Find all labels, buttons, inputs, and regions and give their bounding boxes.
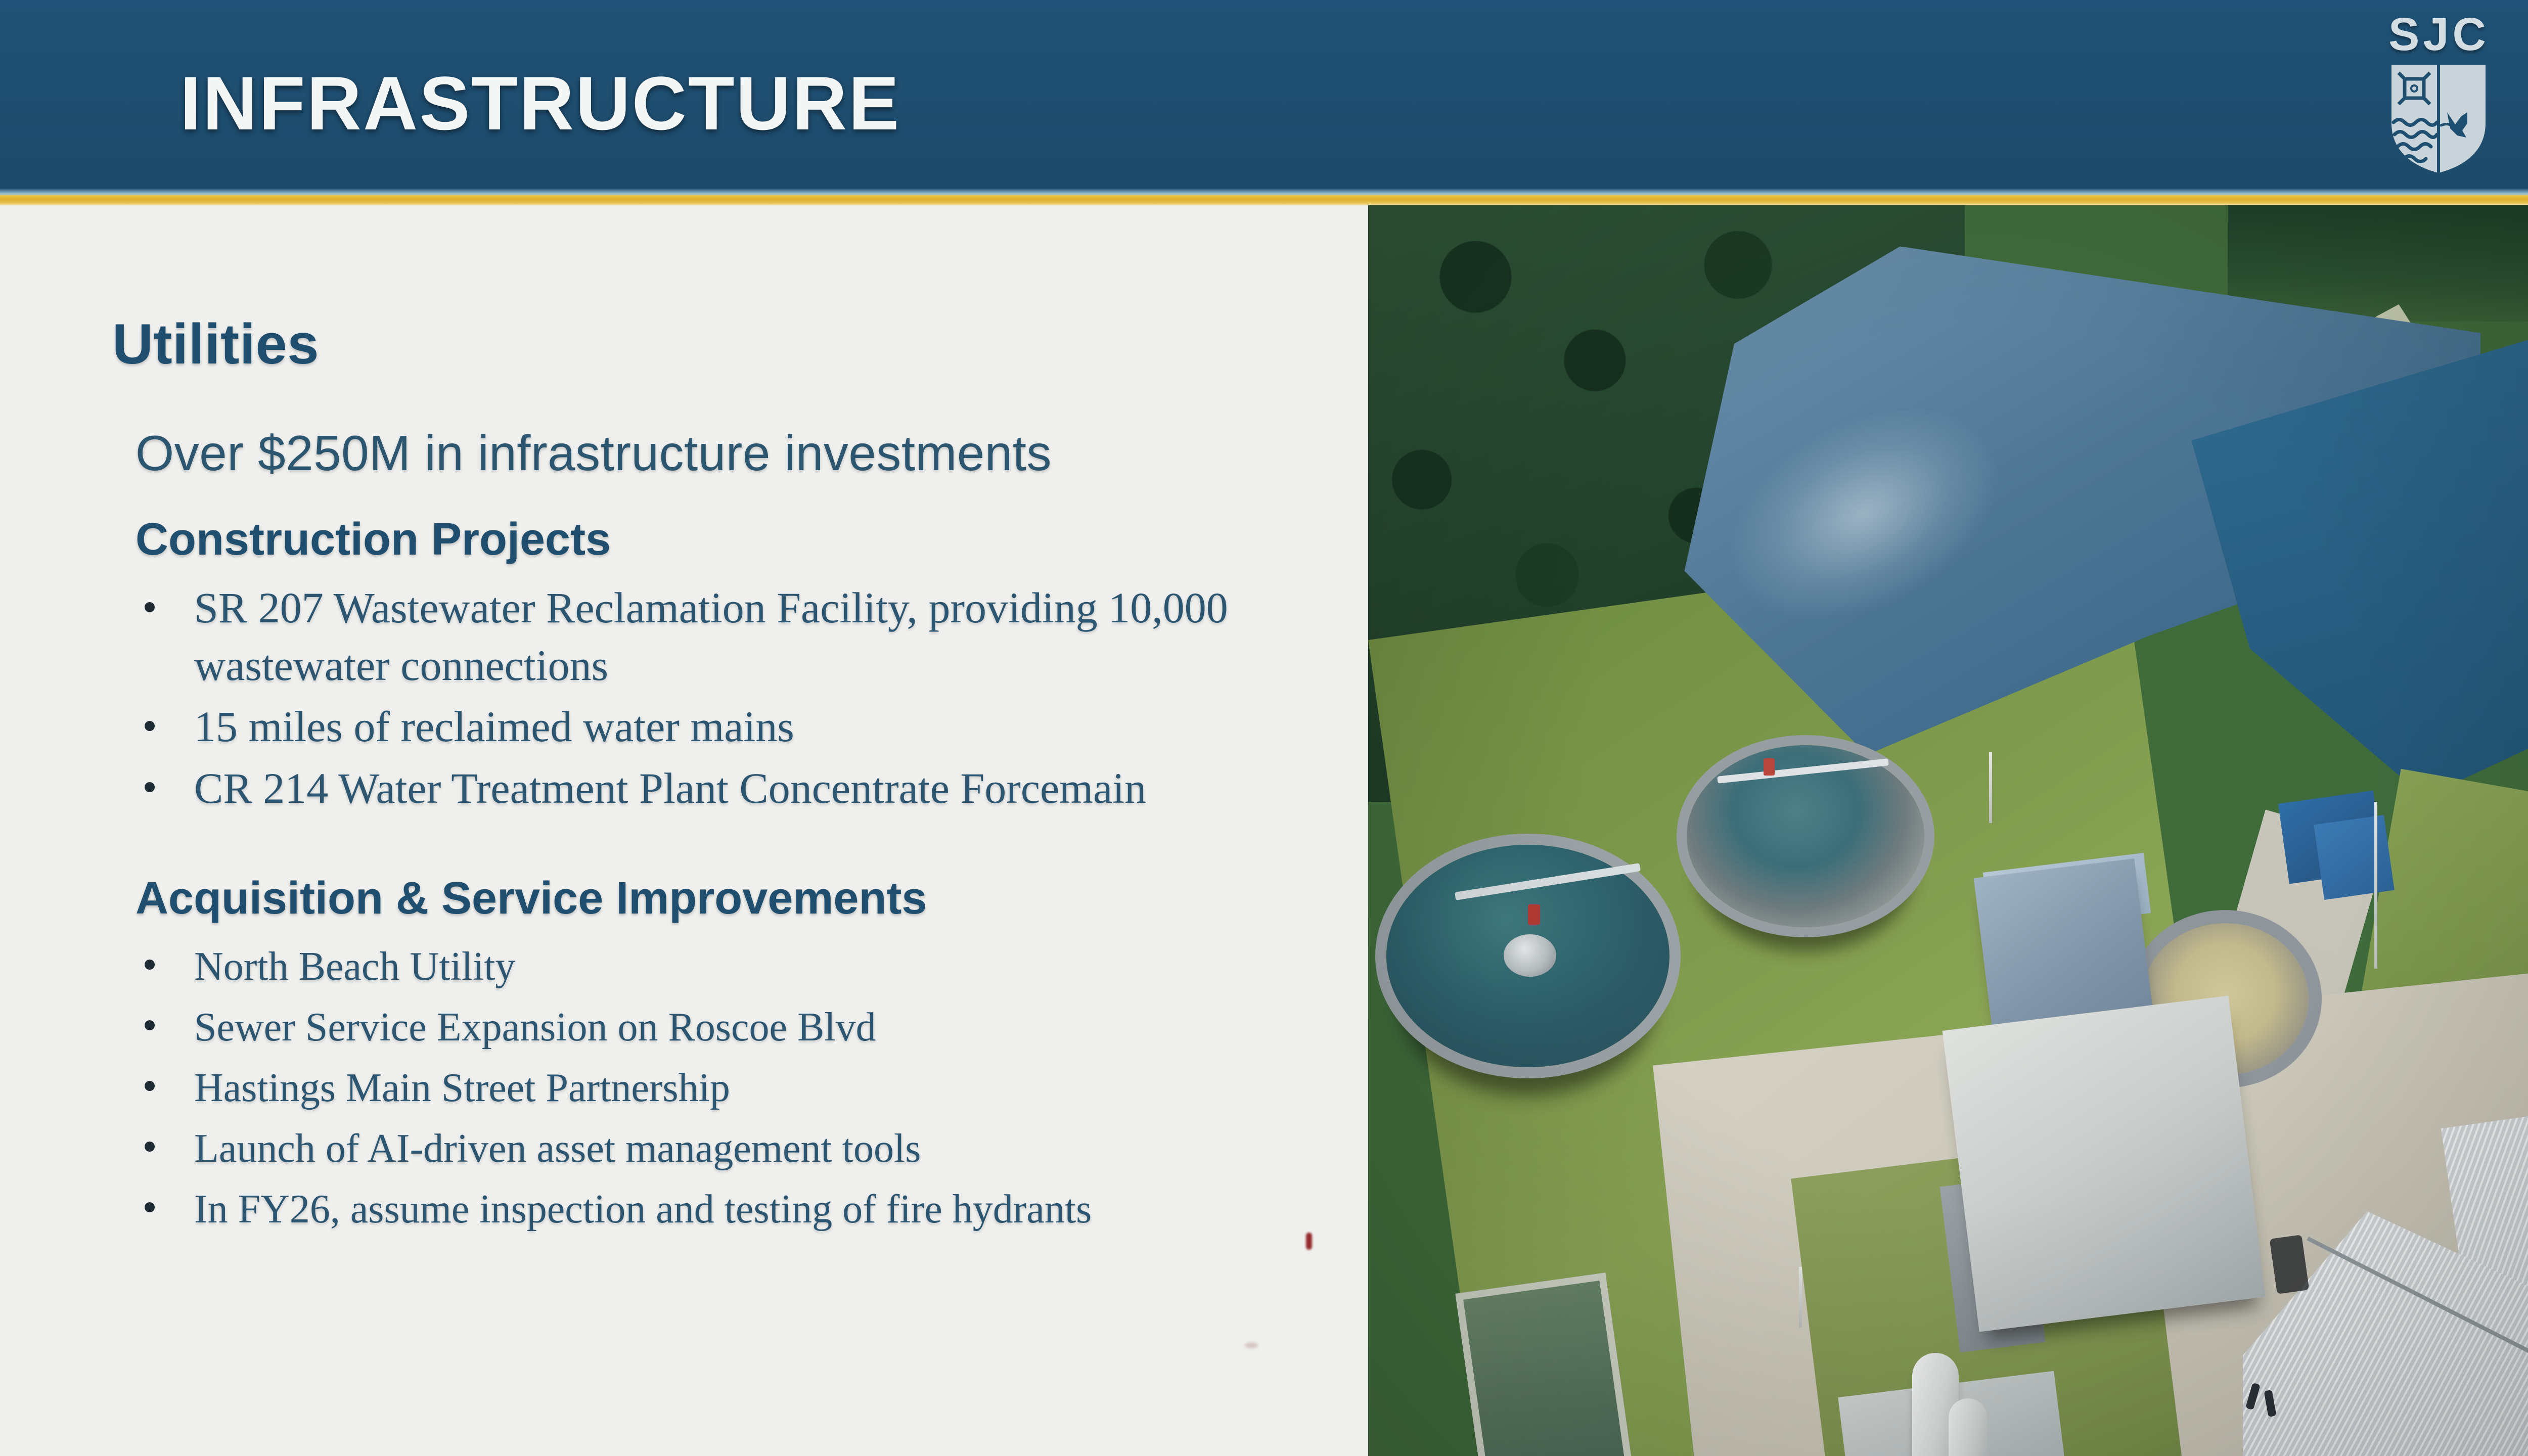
list-item: CR 214 Water Treatment Plant Concentrate…	[136, 760, 1298, 817]
group-heading-acquisition-service-improvements: Acquisition & Service Improvements	[136, 873, 927, 925]
laser-pointer-dot	[1306, 1233, 1312, 1250]
facility-aerial-photo	[1368, 205, 2528, 1456]
list-item: Launch of AI-driven asset management too…	[136, 1120, 1298, 1177]
list-item: In FY26, assume inspection and testing o…	[136, 1181, 1298, 1238]
section-heading-utilities: Utilities	[112, 311, 319, 377]
gold-accent-rule	[0, 195, 2528, 205]
list-item: Hastings Main Street Partnership	[136, 1060, 1298, 1116]
sjc-logo: SJC	[2363, 11, 2515, 178]
bullet-list-acquisition-service-improvements: North Beach Utility Sewer Service Expans…	[136, 938, 1298, 1242]
bullet-list-construction-projects: SR 207 Wastewater Reclamation Facility, …	[136, 579, 1298, 821]
slide-content-pane: Utilities Over $250M in infrastructure i…	[0, 205, 1368, 1456]
list-item: SR 207 Wastewater Reclamation Facility, …	[136, 579, 1298, 694]
list-item: 15 miles of reclaimed water mains	[136, 698, 1298, 756]
presentation-slide: INFRASTRUCTURE SJC	[0, 0, 2528, 1456]
page-title: INFRASTRUCTURE	[180, 60, 900, 147]
list-item: Sewer Service Expansion on Roscoe Blvd	[136, 999, 1298, 1056]
group-heading-construction-projects: Construction Projects	[136, 514, 611, 566]
lead-statement: Over $250M in infrastructure investments	[136, 425, 1052, 482]
logo-wordmark: SJC	[2363, 11, 2515, 58]
image-artifact-smudge	[1245, 1342, 1258, 1348]
photo-grain	[1368, 205, 2528, 1456]
sjc-shield-crest-icon	[2390, 64, 2487, 174]
list-item: North Beach Utility	[136, 938, 1298, 995]
